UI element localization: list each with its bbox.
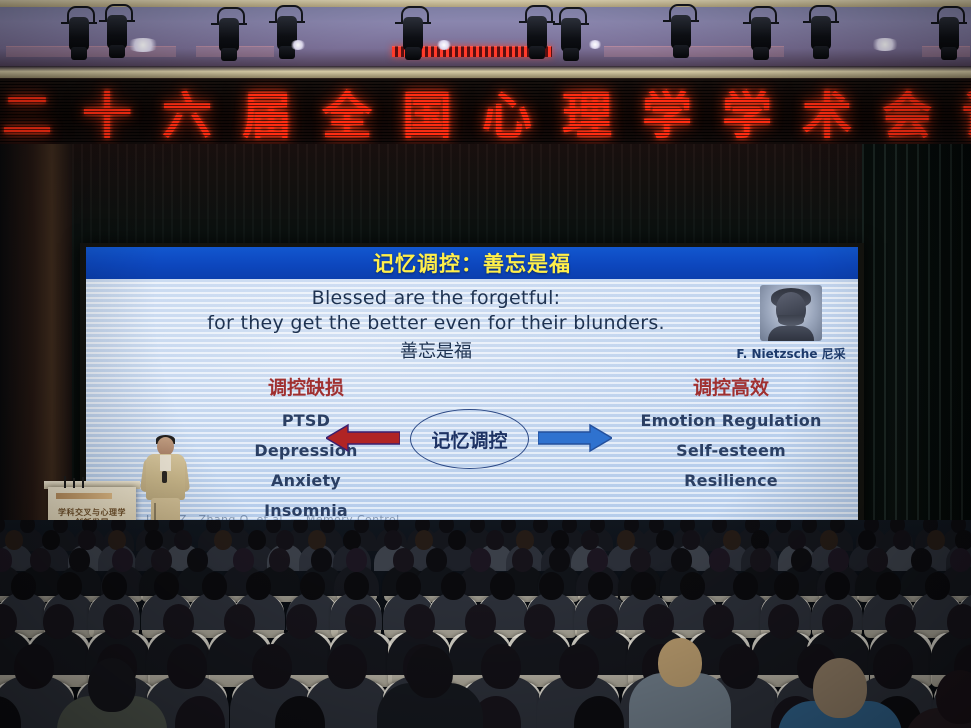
right-column-heading: 调控高效 bbox=[606, 373, 856, 400]
audience-member-head bbox=[11, 572, 36, 600]
audience-member-head bbox=[524, 604, 555, 639]
led-banner-text: 二十六届全国心理学学术会议 bbox=[2, 78, 971, 147]
audience-member-head bbox=[448, 530, 466, 550]
audience-member-head bbox=[490, 572, 515, 600]
audience-member-head bbox=[396, 572, 421, 600]
audience-member-head bbox=[588, 572, 613, 600]
audience-member-head bbox=[617, 530, 635, 550]
audience-member-head bbox=[202, 572, 227, 600]
audience-member-left-foreground-head bbox=[88, 658, 136, 712]
audience-member-head bbox=[927, 530, 945, 550]
audience-member-head bbox=[286, 604, 317, 639]
audience-member-head bbox=[791, 548, 812, 572]
audience-member-head bbox=[174, 530, 192, 550]
audience-member-head bbox=[415, 530, 433, 550]
ceiling-beam-lower bbox=[0, 66, 971, 78]
audience-member-head bbox=[57, 572, 82, 600]
led-char: 全 bbox=[322, 78, 372, 147]
audience-member-head bbox=[768, 604, 799, 639]
audience-member-head bbox=[163, 604, 194, 639]
slide-title-band: 记忆调控：善忘是福 bbox=[86, 247, 858, 279]
audience-member-head bbox=[167, 644, 207, 689]
led-char: 学 bbox=[722, 78, 772, 147]
microphone-icon bbox=[64, 475, 86, 488]
led-char: 学 bbox=[642, 78, 692, 147]
audience-member-head bbox=[671, 548, 692, 572]
audience-member-head bbox=[776, 520, 791, 533]
audience-member-head bbox=[656, 530, 674, 550]
attribution-block: F. Nietzsche 尼采 bbox=[728, 285, 854, 362]
audience-member-head bbox=[631, 572, 656, 600]
stage-curtain-right bbox=[862, 144, 971, 548]
audience-member-head bbox=[300, 572, 325, 600]
conference-hall-photo: 二十六届全国心理学学术会议 记忆调控：善忘是福 Blessed are the … bbox=[0, 0, 971, 728]
audience-member-head bbox=[643, 604, 674, 639]
led-char: 议 bbox=[962, 78, 971, 147]
audience-member-head bbox=[750, 548, 771, 572]
audience-member-head bbox=[103, 604, 134, 639]
slide-title: 记忆调控：善忘是福 bbox=[373, 248, 571, 278]
led-char: 届 bbox=[242, 78, 292, 147]
audience-member-head bbox=[344, 572, 369, 600]
audience-member-head bbox=[723, 530, 741, 550]
led-char: 国 bbox=[402, 78, 452, 147]
attribution-name: F. Nietzsche 尼采 bbox=[728, 345, 854, 362]
audience-member-center-head bbox=[407, 646, 453, 698]
audience-member-head bbox=[345, 604, 376, 639]
right-item: Emotion Regulation bbox=[606, 411, 856, 430]
audience-member-head bbox=[327, 644, 367, 689]
led-char: 十 bbox=[82, 78, 132, 147]
audience-member-head bbox=[885, 604, 916, 639]
audience-member-head bbox=[709, 548, 730, 572]
audience-member-head bbox=[911, 548, 932, 572]
audience-member-head bbox=[876, 572, 901, 600]
audience-member-foreground-head bbox=[813, 658, 867, 718]
slide-quote-block: Blessed are the forgetful: for they get … bbox=[86, 287, 786, 363]
audience-member-head bbox=[269, 548, 290, 572]
ceiling-light-glow bbox=[436, 40, 452, 50]
audience-member-head bbox=[950, 548, 971, 572]
slide-right-column: 调控高效 Emotion Regulation Self-esteem Resi… bbox=[606, 373, 856, 490]
audience-member-head bbox=[393, 548, 414, 572]
audience-member-head bbox=[947, 604, 971, 639]
led-char: 术 bbox=[802, 78, 852, 147]
audience-member-head bbox=[224, 604, 255, 639]
audience-member-head bbox=[712, 520, 727, 533]
led-char: 会 bbox=[882, 78, 932, 147]
ceiling-light-glow bbox=[588, 40, 602, 49]
audience-member-head bbox=[248, 530, 266, 550]
audience-member-head bbox=[486, 530, 504, 550]
audience-member-head bbox=[214, 530, 232, 550]
audience-member-head bbox=[151, 548, 172, 572]
audience-member-head bbox=[587, 548, 608, 572]
quote-line-2: for they get the better even for their b… bbox=[86, 312, 786, 334]
audience-member-head bbox=[266, 520, 281, 533]
audience-member-head bbox=[69, 548, 90, 572]
audience-member-head bbox=[481, 644, 521, 689]
audience-member-head bbox=[559, 644, 599, 689]
audience-member-head bbox=[311, 548, 332, 572]
audience-member-head bbox=[229, 520, 244, 533]
audience-member-head bbox=[112, 548, 133, 572]
audience-member-head bbox=[774, 572, 799, 600]
audience-member-head bbox=[893, 530, 911, 550]
left-arrow-icon bbox=[326, 423, 400, 453]
audience-member-head bbox=[346, 548, 367, 572]
audience-member-head bbox=[246, 572, 271, 600]
audience-member-head bbox=[42, 530, 60, 550]
audience-member-head bbox=[733, 572, 758, 600]
audience-member-head bbox=[549, 548, 570, 572]
right-item: Self-esteem bbox=[606, 441, 856, 460]
led-char: 心 bbox=[482, 78, 532, 147]
conference-led-marquee: 二十六届全国心理学学术会议 bbox=[0, 78, 971, 147]
audience-member-head bbox=[343, 530, 361, 550]
audience-member-head bbox=[252, 644, 292, 689]
audience-member-head bbox=[512, 548, 533, 572]
audience-member-head bbox=[187, 548, 208, 572]
audience-member-head bbox=[680, 572, 705, 600]
audience-member-head bbox=[470, 548, 491, 572]
audience-member-head bbox=[533, 520, 548, 533]
audience-member-head bbox=[470, 520, 485, 533]
center-node-ellipse: 记忆调控 bbox=[410, 409, 529, 469]
ceiling-light-glow bbox=[870, 38, 900, 51]
audience-member-head bbox=[441, 572, 466, 600]
audience-member-head bbox=[539, 572, 564, 600]
audience-member-head bbox=[719, 644, 759, 689]
audience-member-head bbox=[384, 530, 402, 550]
audience-member-right-edge-head bbox=[936, 670, 971, 724]
led-char: 理 bbox=[562, 78, 612, 147]
right-item: Resilience bbox=[606, 471, 856, 490]
audience-member-head bbox=[465, 604, 496, 639]
quote-line-3-chinese: 善忘是福 bbox=[86, 337, 786, 363]
left-item: Anxiety bbox=[216, 471, 396, 490]
audience-member-head bbox=[102, 572, 127, 600]
ceiling-light-glow bbox=[290, 40, 306, 50]
left-column-heading: 调控缺损 bbox=[216, 373, 396, 400]
audience-member-head bbox=[820, 530, 838, 550]
audience-member-head bbox=[233, 548, 254, 572]
audience-member-head bbox=[30, 548, 51, 572]
audience-member-head bbox=[825, 572, 850, 600]
audience-member-head bbox=[630, 548, 651, 572]
audience-member-head bbox=[14, 644, 54, 689]
audience-member-head bbox=[822, 604, 853, 639]
right-arrow-icon bbox=[538, 423, 612, 453]
audience-member-head bbox=[955, 530, 971, 550]
audience-member-head bbox=[867, 548, 888, 572]
ceiling-light-glow bbox=[126, 38, 160, 52]
nietzsche-portrait-icon bbox=[760, 285, 822, 341]
audience-seating bbox=[0, 520, 971, 728]
audience-member-head bbox=[43, 604, 74, 639]
audience-member-head bbox=[703, 604, 734, 639]
podium-logo bbox=[56, 493, 112, 499]
center-node-label: 记忆调控 bbox=[431, 426, 507, 453]
audience-member-head bbox=[426, 548, 447, 572]
audience-member-head bbox=[587, 604, 618, 639]
audience-member-head bbox=[404, 604, 435, 639]
audience-member-head bbox=[5, 530, 23, 550]
audience-member-blonde-head bbox=[658, 638, 702, 687]
audience-member-head bbox=[828, 548, 849, 572]
audience-member-head bbox=[788, 530, 806, 550]
audience-member-head bbox=[925, 572, 950, 600]
audience-member-head bbox=[154, 572, 179, 600]
led-char: 六 bbox=[162, 78, 212, 147]
audience-member-head bbox=[308, 530, 326, 550]
audience-member-head bbox=[873, 644, 913, 689]
ceiling-lighting-rig bbox=[0, 0, 971, 78]
audience-member-head bbox=[516, 530, 534, 550]
quote-line-1: Blessed are the forgetful: bbox=[86, 287, 786, 309]
presentation-slide: 记忆调控：善忘是福 Blessed are the forgetful: for… bbox=[86, 247, 858, 539]
led-char: 二 bbox=[2, 78, 52, 147]
